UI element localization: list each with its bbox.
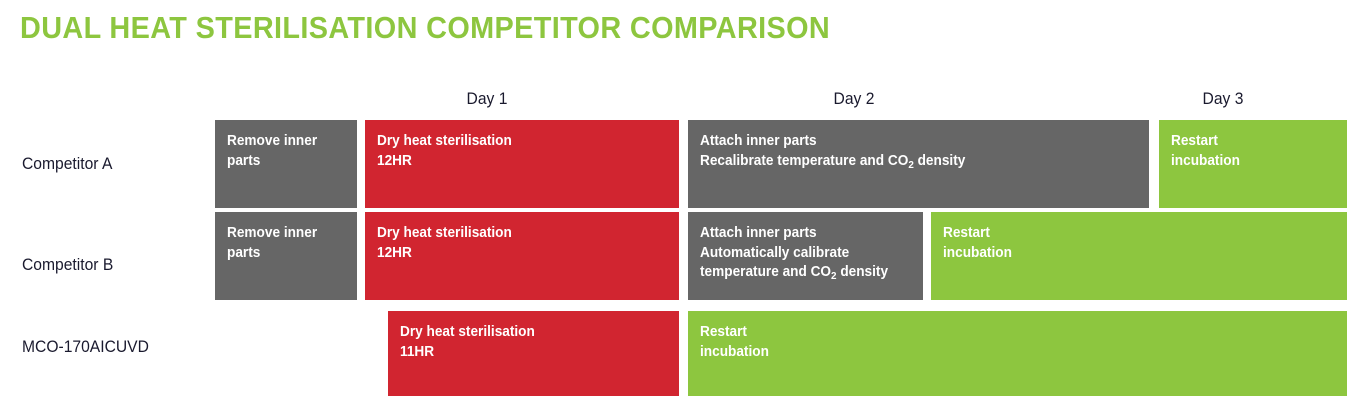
bar-restart-incubation: Restartincubation: [1159, 120, 1347, 208]
competitor-comparison-chart: DUAL HEAT STERILISATION COMPETITOR COMPA…: [0, 0, 1367, 416]
day-header-3: Day 3: [1168, 88, 1278, 110]
bar-remove-inner-parts: Remove innerparts: [215, 212, 357, 300]
bar-text: Restartincubation: [1171, 132, 1325, 171]
row-label-2: Competitor B: [22, 255, 113, 275]
day-header-2: Day 2: [799, 88, 909, 110]
bar-dry-heat-sterilisation: Dry heat sterilisation12HR: [365, 212, 679, 300]
page-title: DUAL HEAT STERILISATION COMPETITOR COMPA…: [20, 8, 830, 48]
bar-text: Attach inner partsRecalibrate temperatur…: [700, 132, 1111, 172]
bar-text: Restartincubation: [700, 323, 1297, 362]
bar-restart-incubation: Restartincubation: [931, 212, 1347, 300]
bar-text: Dry heat sterilisation12HR: [377, 132, 650, 171]
bar-attach-auto-calibrate: Attach inner partsAutomatically calibrat…: [688, 212, 923, 300]
bar-attach-recalibrate: Attach inner partsRecalibrate temperatur…: [688, 120, 1149, 208]
bar-remove-inner-parts: Remove innerparts: [215, 120, 357, 208]
bar-dry-heat-sterilisation: Dry heat sterilisation12HR: [365, 120, 679, 208]
bar-text: Attach inner partsAutomatically calibrat…: [700, 224, 898, 284]
row-label-3: MCO-170AICUVD: [22, 337, 149, 357]
bar-text: Dry heat sterilisation11HR: [400, 323, 651, 362]
bar-restart-incubation: Restartincubation: [688, 311, 1347, 396]
bar-text: Remove innerparts: [227, 224, 338, 263]
day-header-1: Day 1: [432, 88, 542, 110]
bar-text: Dry heat sterilisation12HR: [377, 224, 650, 263]
bar-text: Restartincubation: [943, 224, 1311, 263]
row-label-1: Competitor A: [22, 154, 112, 174]
bar-text: Remove innerparts: [227, 132, 338, 171]
bar-dry-heat-sterilisation: Dry heat sterilisation11HR: [388, 311, 679, 396]
